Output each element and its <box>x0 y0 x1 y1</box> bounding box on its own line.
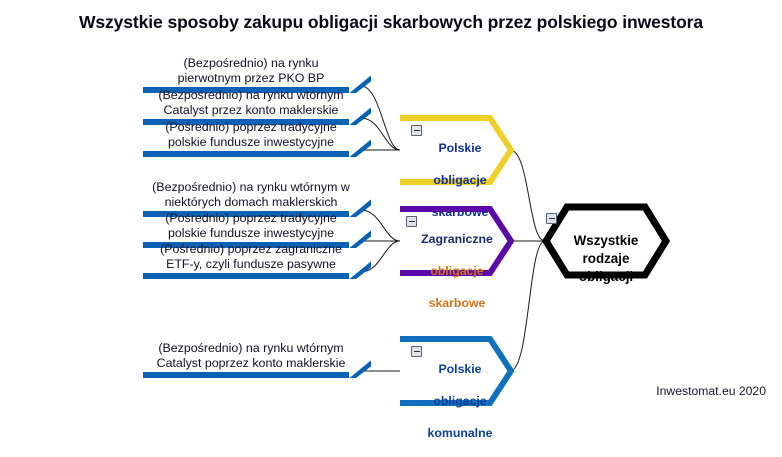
leaf-label: (Bezpośrednio) na rynku wtórnym wniektór… <box>143 180 361 210</box>
root-node-wszystkie-rodzaje-obligacji[interactable]: Wszystkie rodzaje obligacji <box>542 202 670 280</box>
wire-branch-1-root <box>510 150 545 241</box>
leaf-label: (Pośrednio) poprzez zagraniczneETF-y, cz… <box>143 242 361 272</box>
branch-label: Zagraniczne obligacje skarbowe <box>417 215 497 327</box>
page-title: Wszystkie sposoby zakupu obligacji skarb… <box>0 12 782 33</box>
leaf-item[interactable]: (Pośrednio) poprzez tradycyjnepolskie fu… <box>143 120 361 157</box>
branch-label: Polskie obligacje komunalne <box>418 345 502 457</box>
leaf-label: (Pośrednio) poprzez tradycyjnepolskie fu… <box>143 120 361 150</box>
leaf-item[interactable]: (Bezpośrednio) na rynku wtórnymCatalyst … <box>143 341 361 378</box>
footer-credit: Inwestomat.eu 2020 <box>656 384 766 398</box>
leaf-underline-bar <box>143 372 349 378</box>
branch-node-zagraniczne-obligacje-skarbowe[interactable]: Zagraniczne obligacje skarbowe <box>398 205 514 277</box>
leaf-underline-bar <box>143 273 349 279</box>
minus-icon[interactable] <box>406 216 417 227</box>
leaf-item[interactable]: (Pośrednio) poprzez zagraniczneETF-y, cz… <box>143 242 361 279</box>
wire-leaf-1-1 <box>361 86 400 150</box>
branch-node-polskie-obligacje-skarbowe[interactable]: Polskie obligacje skarbowe <box>398 114 514 186</box>
leaf-label: (Bezpośrednio) na rynku wtórnymCatalyst … <box>143 88 361 118</box>
minus-icon[interactable] <box>546 213 557 224</box>
mindmap-canvas: Wszystkie sposoby zakupu obligacji skarb… <box>0 0 782 412</box>
leaf-underline-bar <box>143 151 349 157</box>
root-label: Wszystkie rodzaje obligacji <box>558 214 654 286</box>
leaf-label: (Bezpośrednio) na rynku wtórnymCatalyst … <box>143 341 361 371</box>
wire-branch-3-root <box>510 241 545 371</box>
leaf-label: (Pośrednio) poprzez tradycyjnepolskie fu… <box>143 211 361 241</box>
branch-node-polskie-obligacje-komunalne[interactable]: Polskie obligacje komunalne <box>398 335 514 407</box>
leaf-label: (Bezpośrednio) na rynkupierwotnym przez … <box>143 56 361 86</box>
